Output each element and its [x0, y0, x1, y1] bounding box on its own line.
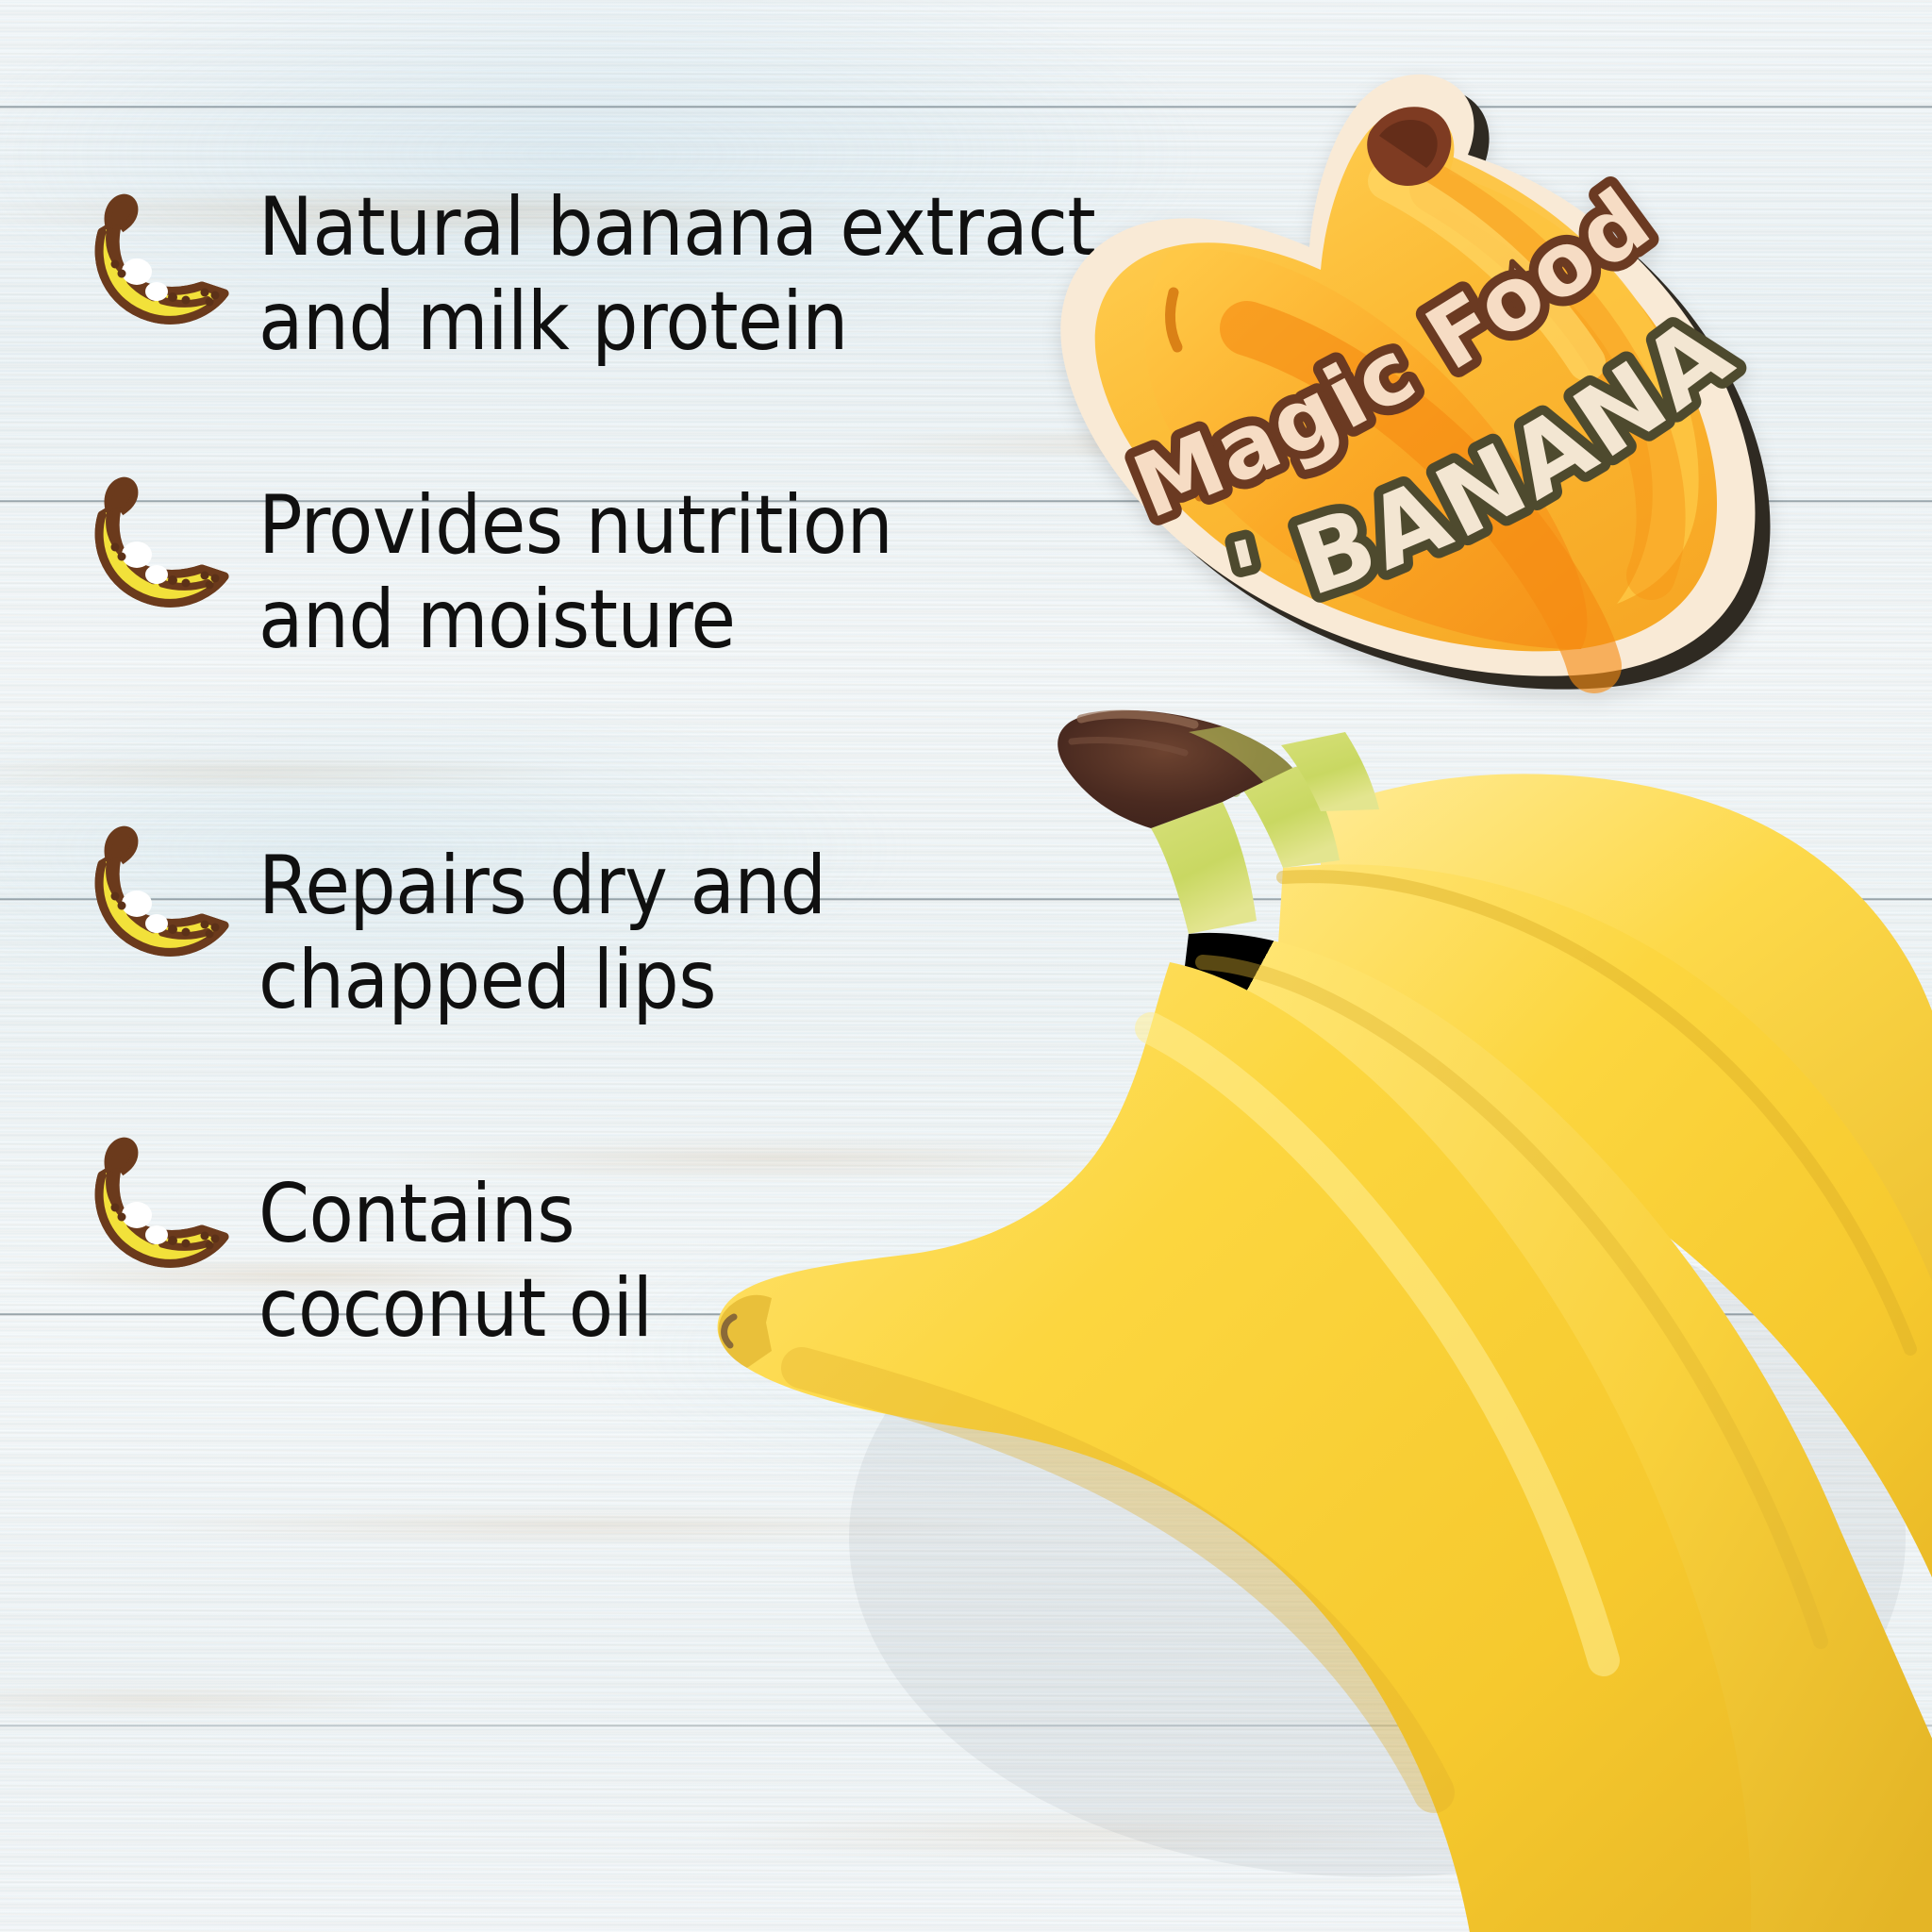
- list-item: Contains coconut oil: [0, 1123, 653, 1357]
- banana-bunch-photo: [660, 651, 1932, 1932]
- banana-icon: [58, 1123, 238, 1283]
- list-item-label: Provides nutrition and moisture: [258, 462, 892, 668]
- banana-icon: [58, 811, 238, 972]
- list-item-label: Contains coconut oil: [258, 1123, 653, 1357]
- list-item: Natural banana extract and milk protein: [0, 179, 1095, 370]
- magic-food-banana-sticker: Magic Food ' BANANA ': [943, 38, 1896, 698]
- product-feature-poster: Natural banana extract and milk protein: [0, 0, 1932, 1932]
- banana-icon: [58, 179, 238, 340]
- banana-icon: [58, 462, 238, 623]
- list-item: Provides nutrition and moisture: [0, 462, 892, 668]
